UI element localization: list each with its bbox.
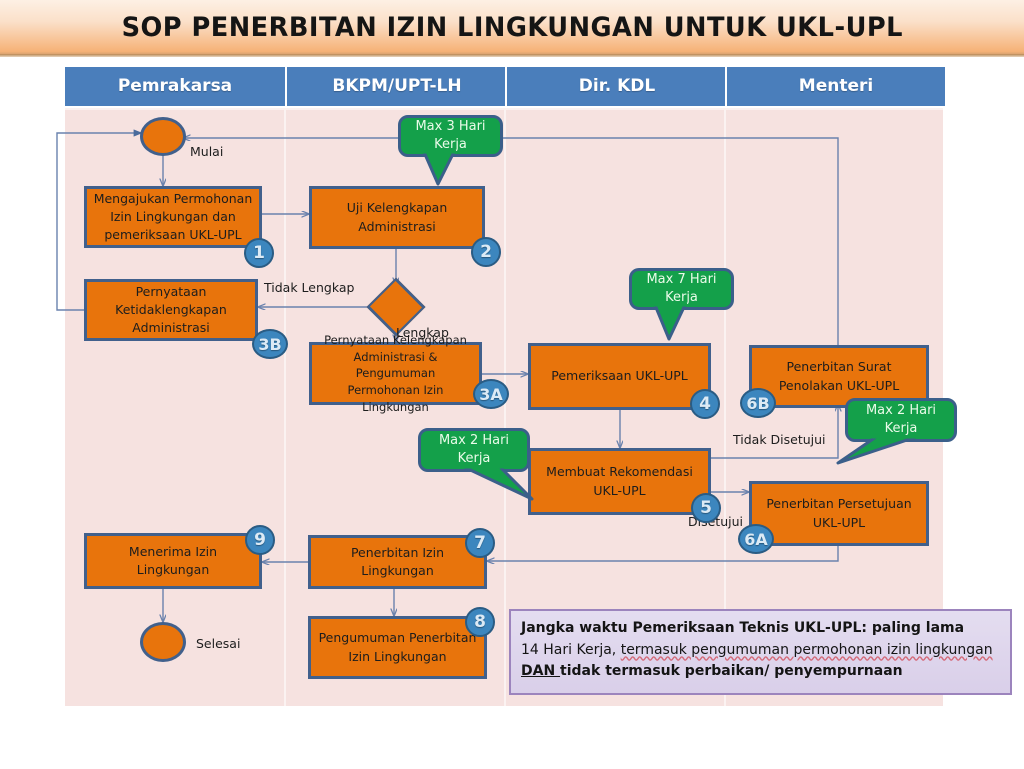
lane-header-label: BKPM/UPT-LH xyxy=(332,76,461,96)
callout-max-7-hari-label: Max 7 Hari Kerja xyxy=(632,271,731,306)
callout-tail-1 xyxy=(398,150,508,186)
lane-divider-2 xyxy=(504,108,506,706)
process-node-2-label: Uji Kelengkapan Administrasi xyxy=(318,199,476,235)
lane-header-label: Pemrakarsa xyxy=(118,76,232,96)
note-box: Jangka waktu Pemeriksaan Teknis UKL-UPL:… xyxy=(509,609,1012,695)
process-node-1-label: Mengajukan Permohonan Izin Lingkungan da… xyxy=(93,190,253,244)
process-node-8-label: Pengumuman Penerbitan Izin Lingkungan xyxy=(317,629,478,665)
process-node-3a-label: Pernyataan Kelengkapan Administrasi & Pe… xyxy=(318,332,473,415)
start-terminator xyxy=(140,117,186,156)
process-node-7[interactable]: Penerbitan Izin Lingkungan xyxy=(308,535,487,589)
lane-header-label: Dir. KDL xyxy=(579,76,655,96)
note-line-2: 14 Hari Kerja, termasuk pengumuman permo… xyxy=(521,640,1000,662)
note-line-2-b: termasuk pengumuman permohonan izin ling… xyxy=(621,642,993,658)
lane-header-bkpm: BKPM/UPT-LH xyxy=(285,66,507,106)
process-node-5-label: Membuat Rekomendasi UKL-UPL xyxy=(537,463,702,499)
decision-kelengkapan[interactable] xyxy=(367,285,425,329)
process-node-3b-label: Pernyataan Ketidaklengkapan Administrasi xyxy=(93,283,249,337)
callout-tail-4 xyxy=(830,435,920,469)
process-node-5[interactable]: Membuat Rekomendasi UKL-UPL xyxy=(528,448,711,515)
end-terminator-label: Selesai xyxy=(196,636,240,651)
badge-6a: 6A xyxy=(738,524,774,554)
diagram-root: SOP PENERBITAN IZIN LINGKUNGAN UNTUK UKL… xyxy=(0,0,1024,769)
lane-header-dirkdl: Dir. KDL xyxy=(505,66,727,106)
process-node-6b-label: Penerbitan Surat Penolakan UKL-UPL xyxy=(758,358,920,394)
process-node-7-label: Penerbitan Izin Lingkungan xyxy=(317,544,478,580)
start-terminator-label: Mulai xyxy=(190,144,223,159)
badge-3b: 3B xyxy=(252,329,288,359)
page-title: SOP PENERBITAN IZIN LINGKUNGAN UNTUK UKL… xyxy=(121,12,902,43)
process-node-3a[interactable]: Pernyataan Kelengkapan Administrasi & Pe… xyxy=(309,342,482,405)
callout-max-2-hari-penerbitan-label: Max 2 Hari Kerja xyxy=(848,402,954,437)
note-line-1: Jangka waktu Pemeriksaan Teknis UKL-UPL:… xyxy=(521,618,1000,640)
note-line-3: DAN tidak termasuk perbaikan/ penyempurn… xyxy=(521,661,1000,683)
process-node-6a[interactable]: Penerbitan Persetujuan UKL-UPL xyxy=(749,481,929,546)
edge-label-lengkap: Lengkap xyxy=(396,325,449,340)
callout-max-2-hari-rekomendasi-label: Max 2 Hari Kerja xyxy=(421,432,527,467)
process-node-1[interactable]: Mengajukan Permohonan Izin Lingkungan da… xyxy=(84,186,262,248)
note-line-3-a: DAN xyxy=(521,663,560,679)
process-node-4[interactable]: Pemeriksaan UKL-UPL xyxy=(528,343,711,410)
title-banner: SOP PENERBITAN IZIN LINGKUNGAN UNTUK UKL… xyxy=(0,0,1024,54)
badge-6b: 6B xyxy=(740,388,776,418)
process-node-8[interactable]: Pengumuman Penerbitan Izin Lingkungan xyxy=(308,616,487,679)
process-node-6a-label: Penerbitan Persetujuan UKL-UPL xyxy=(758,495,920,531)
process-node-2[interactable]: Uji Kelengkapan Administrasi xyxy=(309,186,485,249)
lane-header-menteri: Menteri xyxy=(725,66,945,106)
process-node-9[interactable]: Menerima Izin Lingkungan xyxy=(84,533,262,589)
badge-2: 2 xyxy=(471,237,501,267)
note-line-2-a: 14 Hari Kerja, xyxy=(521,642,621,658)
badge-7: 7 xyxy=(465,528,495,558)
lane-header-pemrakarsa: Pemrakarsa xyxy=(65,66,285,106)
edge-label-tidak-lengkap: Tidak Lengkap xyxy=(264,280,354,295)
callout-tail-2 xyxy=(629,303,739,341)
lane-divider-1 xyxy=(284,108,286,706)
edge-label-tidak-disetujui: Tidak Disetujui xyxy=(733,432,826,447)
callout-max-3-hari-label: Max 3 Hari Kerja xyxy=(401,118,500,153)
badge-1: 1 xyxy=(244,238,274,268)
badge-5: 5 xyxy=(691,493,721,523)
badge-3a: 3A xyxy=(473,379,509,409)
badge-9: 9 xyxy=(245,525,275,555)
callout-tail-3 xyxy=(460,465,546,503)
end-terminator xyxy=(140,622,186,662)
badge-4: 4 xyxy=(690,389,720,419)
lane-header-label: Menteri xyxy=(799,76,873,96)
note-line-3-b: tidak termasuk perbaikan/ penyempurnaan xyxy=(560,663,903,679)
title-divider xyxy=(0,54,1024,57)
badge-8: 8 xyxy=(465,607,495,637)
process-node-4-label: Pemeriksaan UKL-UPL xyxy=(551,367,687,385)
process-node-3b[interactable]: Pernyataan Ketidaklengkapan Administrasi xyxy=(84,279,258,341)
process-node-9-label: Menerima Izin Lingkungan xyxy=(93,543,253,579)
